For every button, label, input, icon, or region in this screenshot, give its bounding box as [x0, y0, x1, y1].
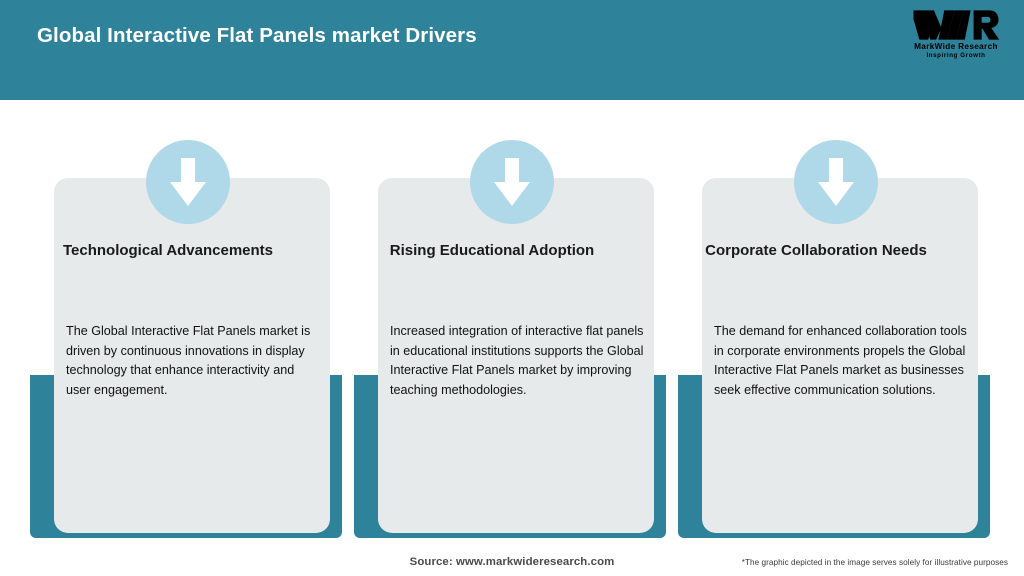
card-body-text: The Global Interactive Flat Panels marke…	[66, 322, 320, 400]
card-heading: Corporate Collaboration Needs	[698, 240, 934, 262]
driver-card-2: Rising Educational Adoption Increased in…	[354, 100, 666, 540]
down-arrow-icon	[794, 140, 878, 224]
driver-card-1: Technological Advancements The Global In…	[30, 100, 342, 540]
disclaimer-note: *The graphic depicted in the image serve…	[742, 558, 1008, 567]
down-arrow-glyph	[492, 156, 532, 208]
drivers-card-row: Technological Advancements The Global In…	[0, 100, 1024, 540]
card-body-text: The demand for enhanced collaboration to…	[714, 322, 968, 400]
driver-card-3: Corporate Collaboration Needs The demand…	[678, 100, 990, 540]
down-arrow-glyph	[168, 156, 208, 208]
logo-tagline: Inspiring Growth	[904, 52, 1008, 60]
logo: MarkWide Research Inspiring Growth	[904, 8, 1008, 64]
card-heading: Rising Educational Adoption	[374, 240, 610, 262]
down-arrow-icon	[470, 140, 554, 224]
down-arrow-glyph	[816, 156, 856, 208]
down-arrow-icon	[146, 140, 230, 224]
card-body-text: Increased integration of interactive fla…	[390, 322, 644, 400]
card-heading: Technological Advancements	[50, 240, 286, 262]
mwr-logo-mark	[912, 8, 1000, 42]
header-banner: Global Interactive Flat Panels market Dr…	[0, 0, 1024, 100]
logo-name: MarkWide Research	[904, 42, 1008, 52]
page-title: Global Interactive Flat Panels market Dr…	[37, 24, 477, 48]
